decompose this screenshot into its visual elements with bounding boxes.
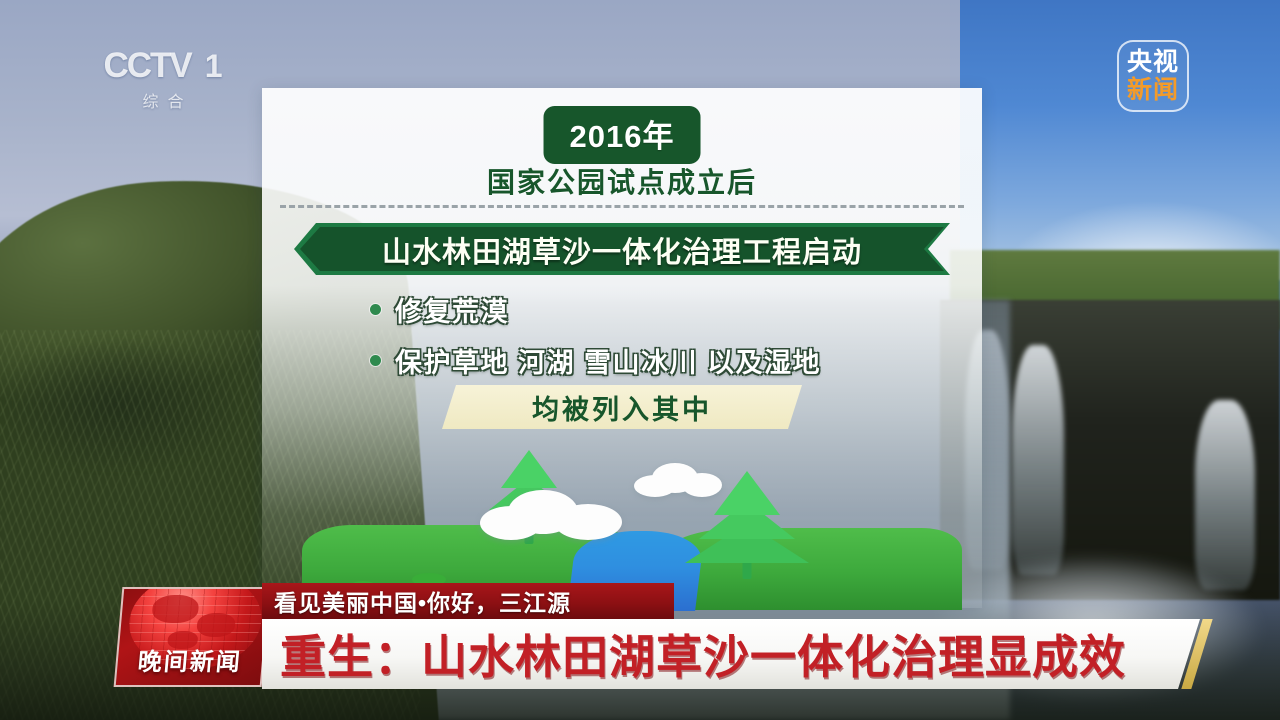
bullet-label: 修复荒漠: [395, 290, 509, 329]
tree-tier: [714, 471, 780, 515]
cctv-channel-number: 1: [205, 48, 223, 85]
cloud-puff: [682, 473, 722, 497]
cloud-icon: [480, 488, 622, 540]
program-logo-badge: 晚间新闻: [114, 587, 271, 687]
highlight-label: 均被列入其中: [532, 388, 712, 427]
cctv-news-badge: 央视 新闻: [1117, 40, 1189, 112]
cctv-logo-row: CCTV 1: [103, 46, 222, 86]
highlight-callout: 均被列入其中: [442, 385, 802, 429]
list-item: 保护草地 河湖 雪山冰川 以及湿地: [370, 341, 970, 380]
cctv-channel-name: 综合: [133, 88, 192, 112]
cctv-wordmark: CCTV: [103, 46, 190, 86]
banner-headline: 山水林田湖草沙一体化治理工程启动: [262, 221, 982, 279]
news-badge-line-2: 新闻: [1127, 77, 1179, 103]
topic-label: 看见美丽中国•你好，三江源: [274, 584, 571, 618]
year-badge: 2016年: [544, 106, 701, 164]
broadcast-screen: CCTV 1 综合 央视 新闻 2016年 国家公园试点成立后 山水林田湖草沙一…: [0, 0, 1280, 720]
tree-tier: [501, 450, 557, 488]
infographic-subtitle: 国家公园试点成立后: [487, 161, 757, 201]
infographic-card: 2016年 国家公园试点成立后 山水林田湖草沙一体化治理工程启动 修复荒漠 保护…: [262, 88, 982, 608]
cctv-channel-logo: CCTV 1 综合: [78, 48, 248, 110]
cloud-puff: [554, 504, 622, 540]
headline-label: 重生：山水林田湖草沙一体化治理显成效: [280, 621, 1126, 687]
nature-illustration: [262, 433, 982, 608]
bullet-label: 保护草地 河湖 雪山冰川 以及湿地: [395, 341, 821, 380]
bullet-dot-icon: [370, 355, 381, 366]
cloud-icon: [634, 463, 722, 497]
topic-bar: 看见美丽中国•你好，三江源: [262, 583, 674, 619]
bullet-dot-icon: [370, 304, 381, 315]
news-badge-line-1: 央视: [1127, 49, 1179, 75]
bullet-list: 修复荒漠 保护草地 河湖 雪山冰川 以及湿地: [370, 290, 970, 392]
dashed-divider: [280, 205, 964, 208]
list-item: 修复荒漠: [370, 290, 970, 329]
headline-bar: 重生：山水林田湖草沙一体化治理显成效: [262, 619, 1200, 689]
program-logo-label: 晚间新闻: [117, 642, 264, 677]
